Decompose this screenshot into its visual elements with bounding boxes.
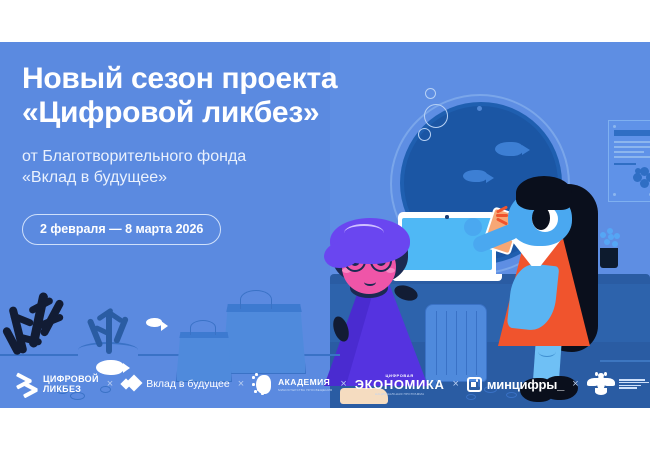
bubble-icon [425,88,436,99]
blush-marks [496,208,512,222]
separator: × [340,378,346,390]
page-title: Новый сезон проекта «Цифровой ликбез» [22,62,422,129]
partner-logo-bar: ЦИФРОВОЙ ЛИКБЕЗ × Вклад в будущее × [0,360,650,408]
hair-top [516,176,572,210]
logo-economy-sub: НАЦИОНАЛЬНАЯ ПРОГРАММА [355,392,445,396]
bubble-icon [418,128,431,141]
fish-icon [495,142,523,156]
subtitle: от Благотворительного фонда «Вклад в буд… [22,147,352,189]
logo-mincifry-label: минцифры_ [487,377,564,392]
title-line-2: «Цифровой ликбез» [22,96,422,130]
separator: × [572,378,578,390]
diamond-icon [121,375,141,393]
separator: × [107,378,113,390]
head-network-icon [252,373,274,395]
logo-economy-main: ЭКОНОМИКА [355,378,445,391]
logo-vklad-v-budushee[interactable]: Вклад в будущее [121,375,229,393]
chevrons-icon [16,374,38,394]
title-line-1: Новый сезон проекта [22,62,422,96]
poster-header-bar [614,130,650,136]
bag-handle [240,290,272,309]
logo-mincifry[interactable]: минцифры_ [467,377,564,392]
bubble-icon [424,104,448,128]
logo-digital-literacy[interactable]: ЦИФРОВОЙ ЛИКБЕЗ [16,374,99,394]
government-text-lines [619,379,649,389]
separator: × [238,378,244,390]
porthole-bolt [477,106,482,111]
logo-government[interactable] [587,372,649,396]
flower-icon [633,167,650,189]
laptop-camera [445,215,449,219]
hand [464,218,482,236]
subtitle-line-1: от Благотворительного фонда [22,147,352,168]
fish-icon [463,170,487,182]
subtitle-line-2: «Вклад в будущее» [22,168,352,189]
dark-coral [6,292,80,360]
double-eagle-icon [587,372,615,396]
logo-academy[interactable]: АКАДЕМИЯ МИНИСТЕРСТВА ПРОСВЕЩЕНИЯ [252,373,332,395]
promo-banner: Новый сезон проекта «Цифровой ликбез» от… [0,42,650,408]
logo-digital-economy[interactable]: ЦИФРОВАЯ ЭКОНОМИКА НАЦИОНАЛЬНАЯ ПРОГРАММ… [355,373,445,396]
logo-academy-label: АКАДЕМИЯ [278,377,332,387]
date-badge: 2 февраля — 8 марта 2026 [22,214,221,245]
logo-dl-line1: ЦИФРОВОЙ [43,374,99,384]
logo-academy-sublabel: МИНИСТЕРСТВА ПРОСВЕЩЕНИЯ [278,388,332,392]
logo-vklad-label: Вклад в будущее [146,378,229,390]
fish-icon [146,318,162,327]
separator: × [452,378,458,390]
square-bracket-icon [467,377,482,392]
logo-dl-line2: ЛИКБЕЗ [43,384,99,394]
bag-handle [190,320,216,335]
blue-coral [88,308,132,356]
